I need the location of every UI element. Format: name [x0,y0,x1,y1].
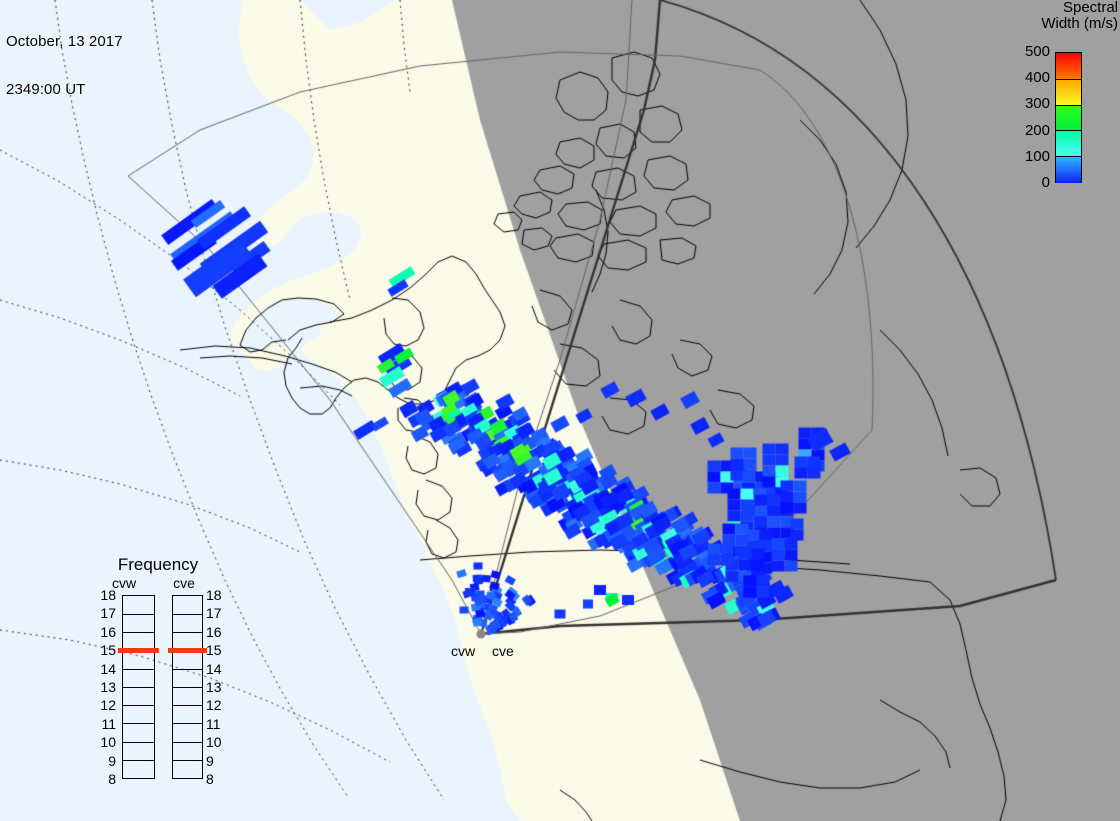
frequency-segment [123,705,154,723]
frequency-tick-15: 15 [90,643,116,657]
frequency-tick-12: 12 [90,698,116,712]
colorbar: Spectral Width (m/s) 5004003002001000 [1000,0,1120,200]
frequency-segment [173,760,202,778]
frequency-tick-14: 14 [206,662,232,676]
frequency-tick-16: 16 [206,625,232,639]
colorbar-tick-400: 400 [1025,70,1050,85]
colorbar-segment-4 [1056,156,1081,183]
frequency-panel: Frequency cvw cve 18171615141312111098 1… [78,556,238,792]
colorbar-tick-100: 100 [1025,149,1050,164]
timestamp-time: 2349:00 UT [6,82,123,98]
frequency-tick-8: 8 [206,772,232,786]
colorbar-tick-0: 0 [1042,175,1050,190]
frequency-tick-11: 11 [206,717,232,731]
frequency-tick-14: 14 [90,662,116,676]
colorbar-gradient [1055,52,1082,183]
frequency-tick-15: 15 [206,643,232,657]
frequency-tick-18: 18 [206,588,232,602]
frequency-tick-10: 10 [206,735,232,749]
frequency-segment [173,596,202,614]
colorbar-segment-1 [1056,79,1081,106]
timestamp: October, 13 2017 2349:00 UT [6,2,123,130]
colorbar-tick-300: 300 [1025,96,1050,111]
frequency-tick-11: 11 [90,717,116,731]
site-label-cve: cve [492,644,514,659]
frequency-tick-17: 17 [90,606,116,620]
colorbar-segment-0 [1056,53,1081,79]
frequency-segment [123,669,154,687]
timestamp-date: October, 13 2017 [6,34,123,50]
frequency-tick-17: 17 [206,606,232,620]
colorbar-title-line2: Width (m/s) [1000,16,1118,32]
colorbar-title-line1: Spectral [1000,0,1118,16]
colorbar-segment-3 [1056,130,1081,157]
frequency-segment [123,687,154,705]
frequency-segment [173,742,202,760]
frequency-tick-13: 13 [206,680,232,694]
frequency-segment [173,669,202,687]
frequency-title: Frequency [78,556,238,574]
frequency-bar-cvw[interactable] [122,595,155,779]
frequency-tick-16: 16 [90,625,116,639]
frequency-segment [123,596,154,614]
frequency-tick-13: 13 [90,680,116,694]
frequency-tick-9: 9 [90,754,116,768]
radar-map-page: October, 13 2017 2349:00 UT Spectral Wid… [0,0,1120,821]
site-label-cvw: cvw [451,644,475,659]
frequency-marker-cve [168,648,207,653]
colorbar-title: Spectral Width (m/s) [1000,0,1118,32]
frequency-marker-cvw [118,648,159,653]
frequency-segment [173,687,202,705]
frequency-segment [123,760,154,778]
frequency-segment [173,614,202,632]
frequency-segment [123,614,154,632]
frequency-tick-10: 10 [90,735,116,749]
frequency-tick-18: 18 [90,588,116,602]
colorbar-tick-200: 200 [1025,123,1050,138]
colorbar-segment-2 [1056,105,1081,132]
colorbar-tick-labels: 5004003002001000 [992,44,1050,192]
frequency-column-label-cve: cve [154,576,214,591]
frequency-segment [173,651,202,669]
colorbar-tick-500: 500 [1025,44,1050,59]
frequency-segment [123,723,154,741]
frequency-segment [173,705,202,723]
frequency-tick-9: 9 [206,754,232,768]
frequency-segment [123,651,154,669]
frequency-bar-cve[interactable] [172,595,203,779]
frequency-segment [173,723,202,741]
frequency-segment [123,742,154,760]
frequency-tick-8: 8 [90,772,116,786]
frequency-tick-12: 12 [206,698,232,712]
